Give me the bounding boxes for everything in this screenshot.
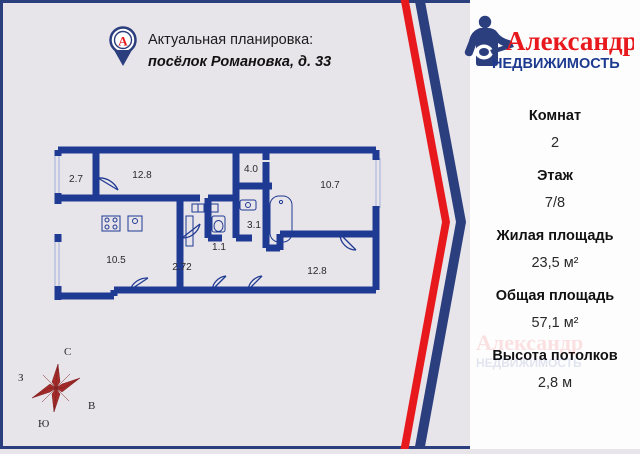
logo-brand: Александр <box>506 26 634 56</box>
spec-value-ceiling: 2,8 м <box>470 375 640 391</box>
room-label-living-nw: 12.8 <box>132 170 152 181</box>
spec-label-total-area: Общая площадь <box>470 288 640 304</box>
header-text-block: Актуальная планировка: посёлок Романовка… <box>148 26 331 72</box>
spec-value-floor: 7/8 <box>470 195 640 211</box>
room-label-living-se: 12.8 <box>307 266 327 277</box>
compass-south: Ю <box>38 418 49 430</box>
spec-value-total-area: 57,1 м² <box>470 315 640 331</box>
header-label: Актуальная планировка: <box>148 30 331 50</box>
room-label-kitchen: 10.5 <box>106 255 126 266</box>
room-label-ne: 10.7 <box>320 180 340 191</box>
room-label-center: 4.0 <box>244 164 258 175</box>
header-address: посёлок Романовка, д. 33 <box>148 52 331 72</box>
compass-west: З <box>18 372 24 384</box>
spec-value-living-area: 23,5 м² <box>470 255 640 271</box>
room-label-balcony: 2.7 <box>69 174 83 185</box>
compass-rose: С З В Ю <box>12 346 112 438</box>
spec-value-rooms: 2 <box>470 135 640 151</box>
map-pin-icon: А <box>108 26 138 68</box>
spec-label-rooms: Комнат <box>470 108 640 124</box>
room-label-toilet: 1.1 <box>212 242 226 253</box>
spec-label-ceiling: Высота потолков <box>470 348 640 364</box>
spec-label-living-area: Жилая площадь <box>470 228 640 244</box>
room-label-bathroom: 3.1 <box>247 220 261 231</box>
svg-text:А: А <box>118 34 128 49</box>
logo-tagline: НЕДВИЖИМОСТЬ <box>492 56 620 72</box>
room-label-hallway: 2.72 <box>172 262 192 273</box>
company-logo: Александр НЕДВИЖИМОСТЬ <box>454 8 634 88</box>
info-panel: Александр НЕДВИЖИМОСТЬ Комнат 2 Этаж 7/8… <box>470 0 640 449</box>
spec-label-floor: Этаж <box>470 168 640 184</box>
header: А Актуальная планировка: посёлок Романов… <box>108 26 331 72</box>
compass-east: В <box>88 400 95 412</box>
floor-plan: 2.7 12.8 4.0 10.7 10.5 2.72 1.1 3.1 12.8 <box>40 138 400 308</box>
compass-north: С <box>64 346 71 358</box>
spec-list: Комнат 2 Этаж 7/8 Жилая площадь 23,5 м² … <box>470 108 640 408</box>
stove-fixture <box>102 216 120 231</box>
